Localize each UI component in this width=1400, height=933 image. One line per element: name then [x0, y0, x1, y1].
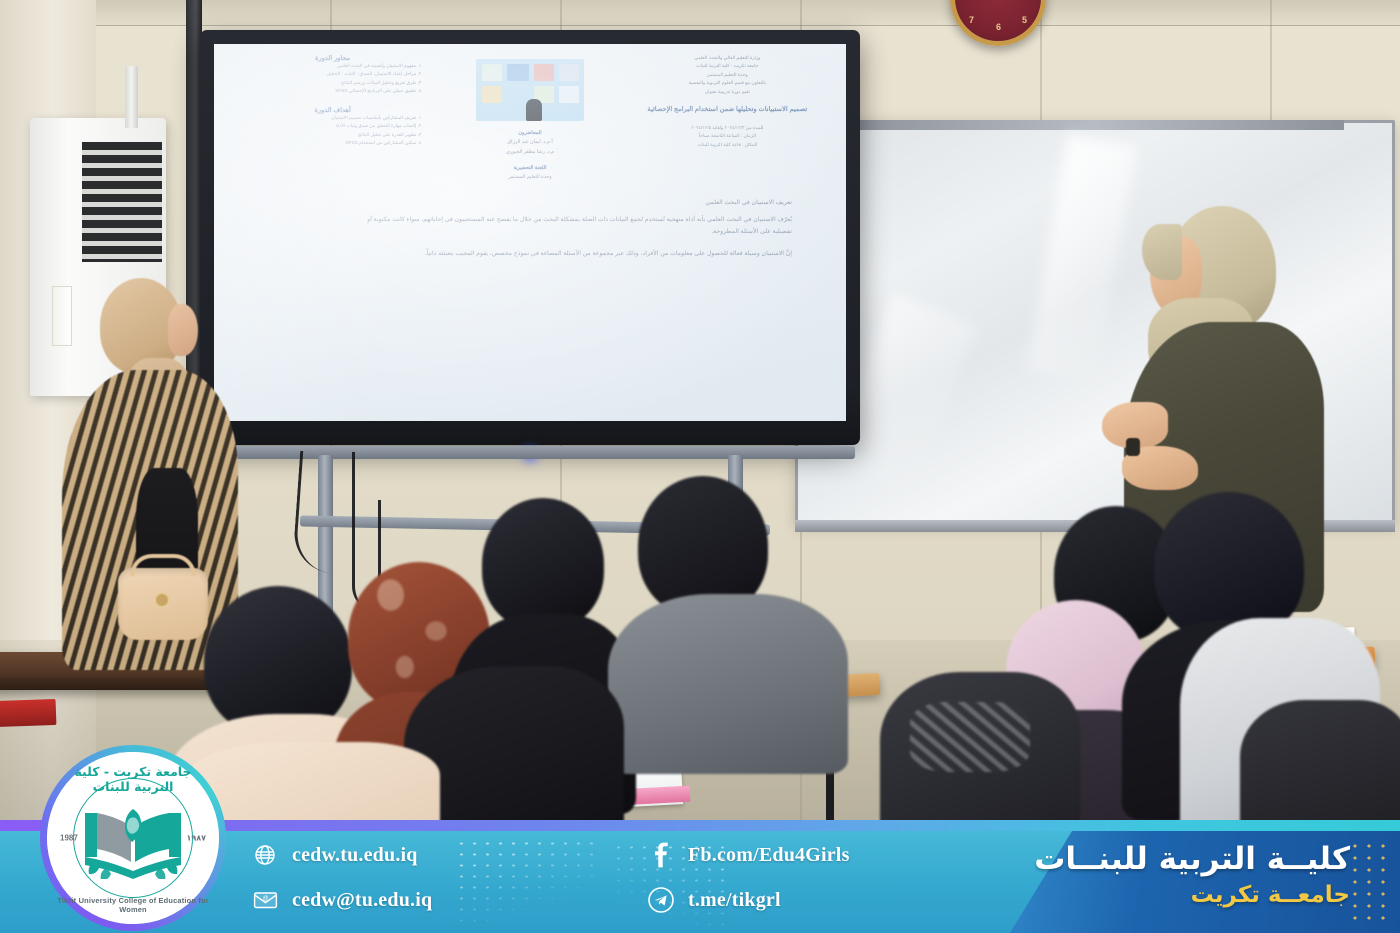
ministry-header: وزارة التعليم العالي والبحث العلمي: [639, 54, 816, 62]
interactive-flat-panel-display[interactable]: محاور الدورة ١. مفهوم الاستبيان وأهميته …: [200, 30, 860, 445]
course-axes-item: ٤. تطبيق عملي على البرنامج الإحصائي SPSS: [244, 87, 421, 95]
course-axes-item: ٢. مراحل إعداد الاستبيان: الصدق - الثبات…: [244, 70, 421, 78]
facebook-icon: [648, 842, 674, 868]
university-name-arabic: جامعــة تكريت: [1034, 882, 1350, 908]
website-url[interactable]: cedw.tu.edu.iq: [292, 844, 418, 867]
course-goals-item: ١. تعريف المشاركين بأساسيات تصميم الاستب…: [244, 114, 421, 122]
ceiling-strip: [0, 0, 1400, 26]
committee-name: وحدة التعليم المستمر: [444, 173, 616, 182]
course-axes-item: ٣. طرق تفريغ وتحليل البيانات ورسم النتائ…: [244, 79, 421, 87]
contact-column-social: Fb.com/Edu4Girls t.me/tikgrl: [648, 842, 850, 913]
slide-body-paragraph: يُعرّف الاستبيان في البحث العلمي بأنه أد…: [364, 214, 792, 239]
logo-english-text: Tikrit University College of Education f…: [49, 896, 217, 914]
course-title: تصميم الاستبيانات وتحليلها ضمن استخدام ا…: [639, 104, 816, 115]
course-intro-line: تقيم دورة تدريبية بعنوان: [639, 88, 816, 96]
university-line: جامعة تكريت - كلية التربية للبنات: [639, 62, 816, 70]
course-time: الزمان : الساعة التاسعة صباحاً: [639, 132, 816, 140]
course-goals-item: ٤. تمكين المشاركين من استخدام SPSS: [244, 139, 421, 147]
slide-body-paragraph: إنَّ الاستبيان وسيلة فعالة للحصول على مع…: [364, 248, 792, 261]
institution-name-block: كليــة التربية للبنــات جامعــة تكريت: [1034, 840, 1350, 908]
globe-icon: [252, 842, 278, 868]
logo-year-latin: 1987: [60, 834, 78, 843]
footer-dot-pattern: [455, 838, 595, 930]
presenters-label: المحاضرون: [444, 129, 616, 138]
course-goals-item: ٣. تطوير القدرة على تحليل النتائج: [244, 131, 421, 139]
unit-line: وحدة التعليم المستمر: [639, 71, 816, 79]
course-axes-header: محاور الدورة: [244, 54, 421, 62]
patterned-fabric: [910, 702, 1030, 772]
course-goals-header: أهداف الدورة: [244, 106, 421, 114]
committee-label: اللجنة التحضيرية: [444, 164, 616, 173]
slide-column-right: وزارة التعليم العالي والبحث العلمي جامعة…: [639, 54, 816, 183]
logo-arabic-text: جامعة تكريت - كلية التربية للبنات: [53, 764, 213, 794]
course-dates: للمدة من ٢٠٢٤/١٢/٣ ولغاية ٢٠٢٤/١٢/٥: [639, 124, 816, 132]
attendee-face: [168, 304, 198, 356]
facebook-handle[interactable]: Fb.com/Edu4Girls: [688, 844, 850, 867]
handbag-clasp-icon: [154, 592, 170, 608]
college-seal-logo: جامعة تكريت - كلية التربية للبنات 1987 ١…: [40, 745, 226, 931]
display-screen[interactable]: محاور الدورة ١. مفهوم الاستبيان وأهميته …: [214, 44, 846, 421]
slide-column-center: المحاضرون أ.م.د. ايمان عبد الرزاق م.د. ر…: [444, 54, 616, 183]
presentation-slide: محاور الدورة ١. مفهوم الاستبيان وأهميته …: [214, 44, 846, 421]
email-row[interactable]: @ cedw@tu.edu.iq: [252, 887, 432, 913]
black-hijab: [482, 498, 604, 630]
slide-column-left: محاور الدورة ١. مفهوم الاستبيان وأهميته …: [244, 54, 421, 183]
open-book-emblem-icon: [79, 803, 187, 879]
clock-numeral: 6: [996, 22, 1001, 32]
screenshot-root: 7 6 5: [0, 0, 1400, 933]
presenter-watch: [1126, 438, 1140, 456]
logo-outer-gradient-ring: جامعة تكريت - كلية التربية للبنات 1987 ١…: [40, 745, 226, 931]
slide-poster-columns: محاور الدورة ١. مفهوم الاستبيان وأهميته …: [244, 54, 816, 183]
course-venue: المكان : قاعة كلية التربية للبنات: [639, 141, 816, 149]
email-address[interactable]: cedw@tu.edu.iq: [292, 889, 432, 912]
presenter-hijab-front: [1142, 224, 1182, 280]
college-name-arabic: كليــة التربية للبنــات: [1034, 840, 1350, 879]
audience-member: [614, 476, 844, 736]
facebook-row[interactable]: Fb.com/Edu4Girls: [648, 842, 850, 868]
poster-illustration: [476, 59, 584, 121]
footer-gold-dot-pattern: [1348, 840, 1392, 928]
telegram-row[interactable]: t.me/tikgrl: [648, 887, 850, 913]
course-axes-item: ١. مفهوم الاستبيان وأهميته في البحث العل…: [244, 62, 421, 70]
telegram-handle[interactable]: t.me/tikgrl: [688, 889, 781, 912]
svg-text:@: @: [262, 896, 268, 902]
envelope-icon: @: [252, 887, 278, 913]
ac-pipe: [125, 66, 138, 128]
presenter-name: أ.م.د. ايمان عبد الرزاق: [444, 138, 616, 147]
red-notebook: [0, 699, 56, 727]
presenter-name: م.د. رشا مظفر الجبوري: [444, 148, 616, 157]
telegram-icon: [648, 887, 674, 913]
ac-vent-grille: [82, 142, 162, 262]
contact-column-web: cedw.tu.edu.iq @ cedw@tu.edu.iq: [252, 842, 432, 913]
department-line: بالتعاون مع قسم العلوم التربوية والنفسية: [639, 79, 816, 87]
audience-member: [880, 672, 1080, 842]
clock-numeral: 5: [1022, 15, 1027, 25]
logo-white-disc: جامعة تكريت - كلية التربية للبنات 1987 ١…: [47, 752, 219, 924]
logo-year-arabic: ١٩٨٧: [186, 834, 206, 843]
poster-person-silhouette: [526, 99, 542, 121]
course-goals-item: ٢. إكساب مهارة التحقق من صدق وثبات الأدا…: [244, 122, 421, 130]
slide-body: تعريف الاستبيان في البحث العلمي يُعرّف ا…: [244, 199, 816, 261]
clock-numeral: 7: [969, 15, 974, 25]
grey-coat: [608, 594, 848, 774]
handbag-handle: [130, 554, 196, 576]
website-row[interactable]: cedw.tu.edu.iq: [252, 842, 432, 868]
slide-body-title: تعريف الاستبيان في البحث العلمي: [364, 199, 792, 206]
